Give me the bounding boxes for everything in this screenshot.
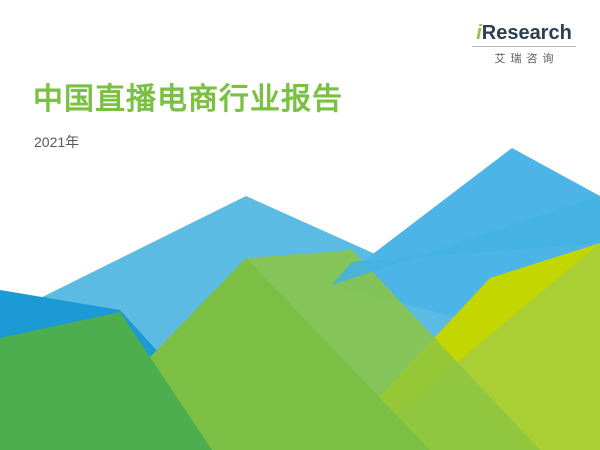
shape-lime-right [330, 243, 600, 450]
shape-blue-mid-right [332, 148, 600, 355]
page-subtitle: 2021年 [34, 132, 79, 152]
logo-wordmark: iResearch [470, 22, 578, 44]
shape-blue-dark-left [0, 290, 247, 450]
logo-chinese-name: 艾瑞咨询 [470, 50, 578, 66]
shape-green-ridge [246, 250, 540, 450]
title-slide: 中国直播电商行业报告 2021年 iResearch 艾瑞咨询 [0, 0, 600, 450]
iresearch-logo: iResearch 艾瑞咨询 [470, 22, 578, 66]
logo-research-text: Research [482, 22, 572, 44]
logo-divider [472, 46, 576, 47]
page-title: 中国直播电商行业报告 [33, 74, 343, 118]
shape-blue-sliver [332, 196, 600, 285]
shape-green-mid [60, 258, 430, 450]
shape-blue-light-back [0, 196, 600, 450]
shape-green-bright [352, 243, 600, 450]
mountain-ribbon-graphic [0, 0, 600, 450]
shape-green-dark-left [0, 312, 212, 450]
